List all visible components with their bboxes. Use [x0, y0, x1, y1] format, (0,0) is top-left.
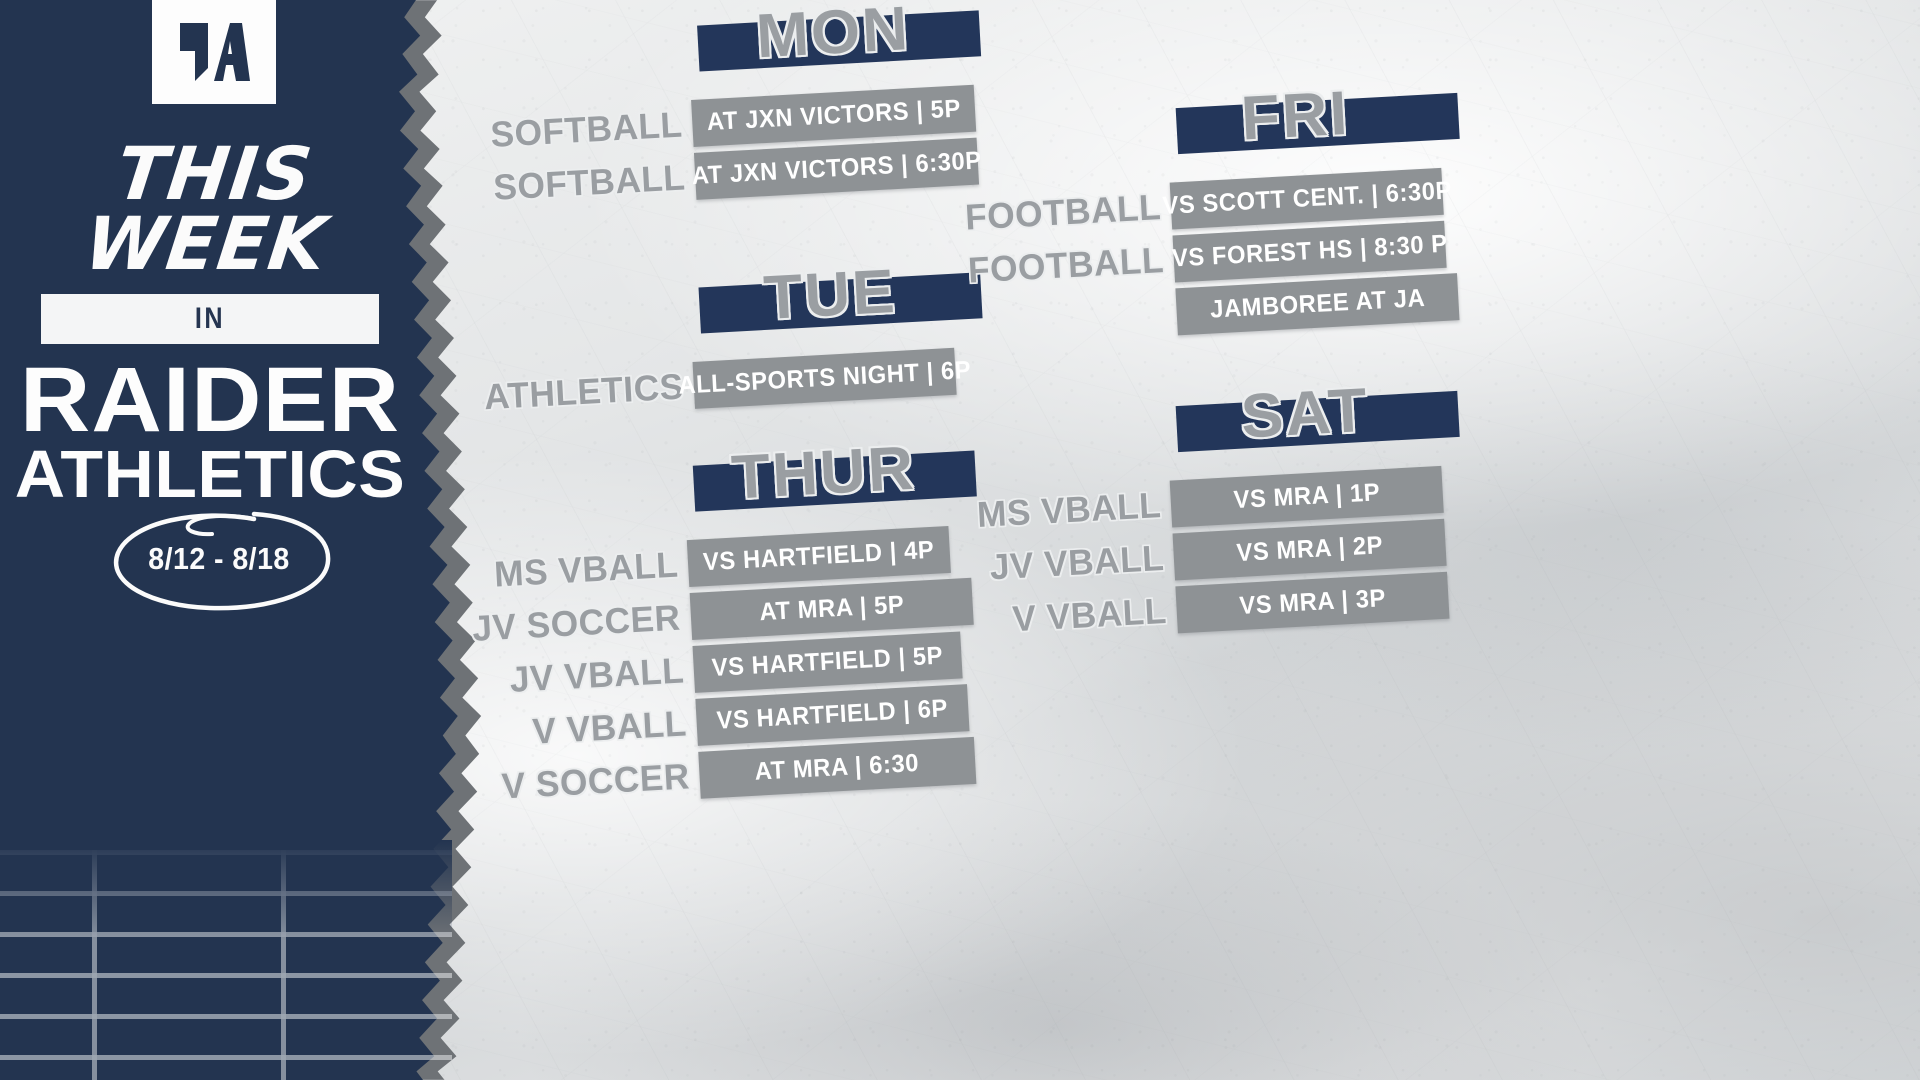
this-week-text: THIS WEEK [0, 140, 429, 280]
sport-label: JV SOCCER [472, 596, 682, 649]
game-text: VS MRA | 1P [1233, 478, 1381, 515]
game-text: VS SCOTT CENT. | 6:30P [1161, 176, 1452, 221]
game-text: VS MRA | 2P [1236, 531, 1384, 568]
game-bar[interactable]: AT MRA | 5P [690, 578, 974, 640]
game-text: VS HARTFIELD | 6P [716, 694, 949, 735]
schedule-row[interactable]: SOFTBALLAT JXN VICTORS | 5P [691, 100, 694, 147]
schedule-row[interactable]: MS VBALLVS HARTFIELD | 4P [687, 540, 690, 587]
game-bar[interactable]: ALL-SPORTS NIGHT | 6P [693, 348, 957, 409]
game-bar[interactable]: VS MRA | 1P [1170, 466, 1444, 528]
game-bar[interactable]: VS FOREST HS | 8:30 P [1173, 221, 1447, 283]
day-header-thur: THUR [461, 456, 686, 526]
schedule-row[interactable]: JAMBOREE AT JA [1175, 288, 1178, 335]
day-header-mon: MON [465, 16, 690, 86]
schedule-row[interactable]: JV VBALLVS HARTFIELD | 5P [693, 646, 696, 693]
schedule-row[interactable]: FOOTBALLVS SCOTT CENT. | 6:30P [1170, 183, 1173, 230]
sport-label: JV VBALL [509, 649, 685, 700]
day-block-fri: FRIFOOTBALLVS SCOTT CENT. | 6:30PFOOTBAL… [953, 99, 1178, 353]
day-header-sat: SAT [953, 397, 1168, 466]
game-text: ALL-SPORTS NIGHT | 6P [677, 356, 971, 401]
schedule-row[interactable]: JV SOCCERAT MRA | 5P [690, 593, 693, 640]
sport-label: ATHLETICS [483, 365, 685, 418]
raider-text: RAIDER [0, 360, 433, 441]
sport-label: V SOCCER [501, 755, 691, 807]
day-rows: ATHLETICSALL-SPORTS NIGHT | 6P [693, 362, 696, 409]
day-name-label: SAT [1239, 380, 1370, 449]
headline-stack: THIS WEEK IN RAIDER ATHLETICS [0, 140, 420, 505]
game-text: AT MRA | 6:30 [754, 749, 920, 787]
athletics-text: ATHLETICS [0, 445, 428, 505]
sport-label: SOFTBALL [492, 156, 686, 208]
game-text: JAMBOREE AT JA [1209, 284, 1425, 325]
game-text: VS HARTFIELD | 5P [711, 641, 944, 682]
day-name-label: FRI [1240, 83, 1351, 151]
day-rows: MS VBALLVS HARTFIELD | 4PJV SOCCERAT MRA… [687, 540, 701, 799]
day-block-thur: THURMS VBALLVS HARTFIELD | 4PJV SOCCERAT… [461, 456, 702, 816]
sport-label: MS VBALL [976, 484, 1162, 536]
game-bar[interactable]: JAMBOREE AT JA [1175, 273, 1459, 335]
game-bar[interactable]: VS HARTFIELD | 5P [693, 631, 963, 692]
schedule-row[interactable]: FOOTBALLVS FOREST HS | 8:30 P [1173, 236, 1176, 283]
game-bar[interactable]: AT JXN VICTORS | 5P [691, 85, 976, 147]
game-bar[interactable]: VS MRA | 3P [1175, 572, 1449, 634]
sport-label: MS VBALL [493, 543, 679, 595]
day-header-fri: FRI [953, 99, 1168, 168]
sport-label: SOFTBALL [489, 103, 683, 155]
sport-label: V VBALL [532, 702, 688, 752]
day-block-mon: MONSOFTBALLAT JXN VICTORS | 5PSOFTBALLAT… [465, 16, 697, 218]
day-name-label: TUE [762, 261, 898, 330]
game-bar[interactable]: VS HARTFIELD | 4P [687, 526, 951, 587]
day-block-tue: TUEATHLETICSALL-SPORTS NIGHT | 6P [466, 278, 695, 427]
game-text: VS MRA | 3P [1238, 584, 1386, 621]
game-text: AT JXN VICTORS | 5P [706, 94, 961, 137]
date-range-text: 8/12 - 8/18 [113, 505, 325, 613]
day-rows: MS VBALLVS MRA | 1PJV VBALLVS MRA | 2PV … [1170, 481, 1178, 634]
sport-label: V VBALL [1012, 589, 1168, 639]
day-block-sat: SATMS VBALLVS MRA | 1PJV VBALLVS MRA | 2… [953, 397, 1178, 651]
day-header-tue: TUE [466, 278, 691, 348]
day-rows: FOOTBALLVS SCOTT CENT. | 6:30PFOOTBALLVS… [1170, 183, 1178, 336]
weekly-schedule: MONSOFTBALLAT JXN VICTORS | 5PSOFTBALLAT… [470, 0, 1920, 1080]
game-bar[interactable]: VS HARTFIELD | 6P [695, 684, 969, 746]
day-name-label: THUR [730, 438, 917, 510]
in-label-text: IN [195, 302, 225, 336]
ja-monogram-logo [178, 21, 250, 83]
in-label-bar: IN [41, 294, 379, 344]
schedule-row[interactable]: V VBALLVS MRA | 3P [1175, 586, 1178, 633]
game-text: VS HARTFIELD | 4P [703, 536, 936, 577]
ja-logo-container [152, 0, 276, 104]
sport-label: JV VBALL [989, 537, 1165, 588]
game-bar[interactable]: VS MRA | 2P [1173, 519, 1447, 581]
game-text: VS FOREST HS | 8:30 P [1171, 230, 1448, 274]
schedule-row[interactable]: ATHLETICSALL-SPORTS NIGHT | 6P [693, 362, 696, 409]
schedule-row[interactable]: MS VBALLVS MRA | 1P [1170, 481, 1173, 528]
sport-label: FOOTBALL [964, 186, 1162, 239]
schedule-row[interactable]: SOFTBALLAT JXN VICTORS | 6:30P [694, 153, 697, 200]
schedule-row[interactable]: V SOCCERAT MRA | 6:30 [698, 752, 701, 799]
game-text: AT MRA | 5P [759, 590, 905, 627]
game-text: AT JXN VICTORS | 6:30P [691, 146, 982, 191]
schedule-row[interactable]: JV VBALLVS MRA | 2P [1173, 534, 1176, 581]
game-bar[interactable]: AT MRA | 6:30 [698, 737, 976, 799]
sport-label: FOOTBALL [967, 239, 1165, 292]
day-rows: SOFTBALLAT JXN VICTORS | 5PSOFTBALLAT JX… [691, 100, 696, 200]
game-bar[interactable]: VS SCOTT CENT. | 6:30P [1170, 168, 1444, 230]
schedule-row[interactable]: V VBALLVS HARTFIELD | 6P [695, 699, 698, 746]
game-bar[interactable]: AT JXN VICTORS | 6:30P [694, 138, 979, 200]
day-name-label: MON [755, 0, 912, 68]
date-range-badge: 8/12 - 8/18 [104, 505, 334, 613]
